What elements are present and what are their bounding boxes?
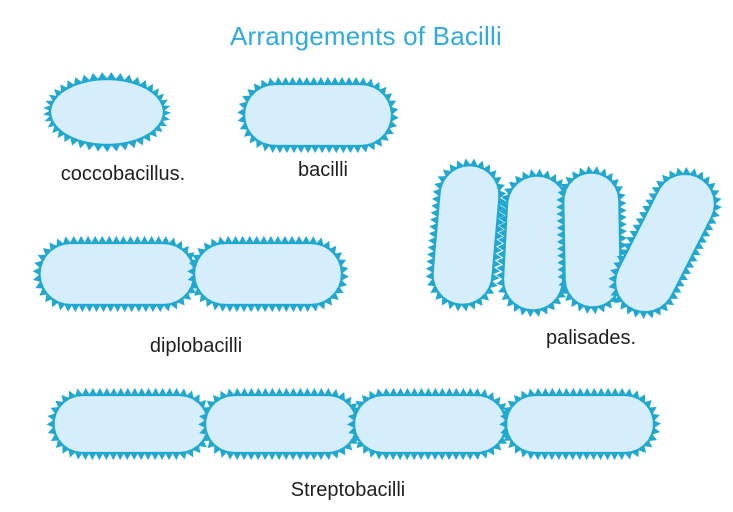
coccobacillus-label: coccobacillus.	[61, 163, 186, 185]
cell-body	[54, 395, 209, 453]
cell-body	[502, 174, 569, 312]
bacterium-cell	[500, 389, 661, 460]
cell-body	[205, 395, 357, 453]
bacterium-cell	[33, 237, 200, 312]
bacilli-group	[238, 78, 398, 153]
streptobacilli-label: Streptobacilli	[291, 479, 406, 501]
cell-body	[506, 395, 654, 453]
cell-body	[430, 163, 502, 308]
bacterium-cell	[238, 78, 398, 153]
page-title: Arrangements of Bacilli	[230, 21, 502, 51]
cell-body	[244, 84, 392, 146]
cell-body	[354, 395, 506, 453]
bacilli-arrangements-illustration: Arrangements of Bacilli coccobacillus.ba…	[0, 0, 733, 512]
bacterium-cell	[188, 237, 348, 312]
diplobacilli-label: diplobacilli	[150, 335, 242, 357]
bacilli-label: bacilli	[298, 159, 348, 181]
diagram-canvas: Arrangements of Bacilli coccobacillus.ba…	[0, 0, 733, 512]
cell-body	[50, 79, 164, 145]
bacterium-cell	[348, 389, 512, 460]
cell-body	[194, 243, 342, 305]
bacterium-cell	[47, 389, 215, 460]
bacterium-cell	[199, 389, 363, 460]
palisades-label: palisades.	[546, 327, 636, 349]
cell-body	[40, 243, 195, 305]
